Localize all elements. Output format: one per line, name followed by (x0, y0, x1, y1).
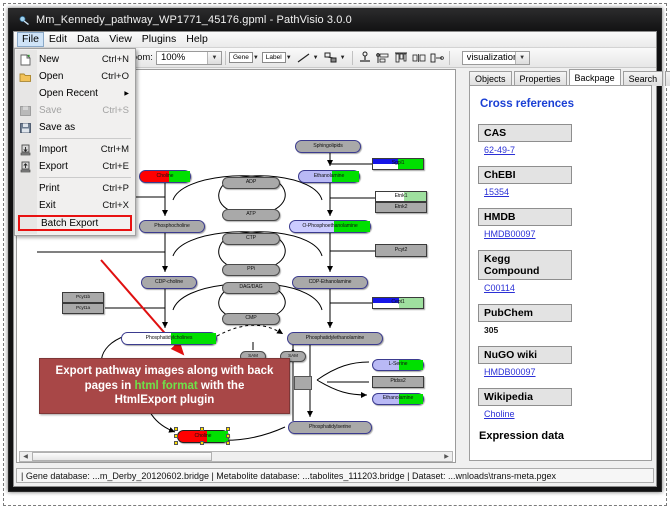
gene-tool-chevron-down-icon[interactable]: ▼ (253, 55, 259, 61)
cofactor-cmp[interactable]: CMP (222, 313, 280, 325)
file-menu-item-save: Save Ctrl+S (15, 102, 135, 119)
file-menu-item-batch-export[interactable]: Batch Export (18, 215, 132, 231)
cofactor-ctp[interactable]: CTP (222, 233, 280, 245)
toolbar-separator (225, 51, 226, 65)
anchor-icon[interactable] (357, 50, 373, 65)
visualization-value: visualization (467, 52, 515, 63)
expression-data-title: Expression data (479, 430, 643, 442)
tab-objects[interactable]: Objects (469, 71, 512, 86)
file-menu-item-open-recent[interactable]: Open Recent ▶ (15, 85, 135, 102)
screenshot-root: Mm_Kennedy_pathway_WP1771_45176.gpml - P… (0, 0, 670, 509)
file-menu-label-new: New (39, 54, 102, 65)
metabolite-ethanolamine-top[interactable]: Ethanolamine (298, 170, 360, 183)
line-tool-chevron-down-icon[interactable]: ▼ (313, 55, 319, 61)
window-title: Mm_Kennedy_pathway_WP1771_45176.gpml - P… (36, 14, 352, 26)
metabolite-cdp-choline[interactable]: CDP-choline (141, 276, 197, 289)
annotation-line2-a: pages in (85, 380, 135, 392)
xref-value-hmdb: HMDB00097 (484, 229, 643, 239)
file-menu-separator-1 (39, 138, 131, 139)
canvas-hscrollbar[interactable]: ◀ ▶ (19, 451, 453, 462)
metabolite-phosphatidylethanolamine[interactable]: Phosphatidylethanolamine (287, 332, 383, 345)
xref-source-pubchem: PubChem (478, 304, 572, 322)
open-folder-icon (19, 71, 32, 83)
xref-source-hmdb: HMDB (478, 208, 572, 226)
file-menu-accel-save: Ctrl+S (102, 105, 135, 116)
xref-source-chebi: ChEBI (478, 166, 572, 184)
label-tool[interactable]: Label (262, 52, 286, 63)
file-menu-dropdown[interactable]: New Ctrl+N Open Ctrl+O Open Recent ▶ (14, 48, 136, 236)
gene-pcyt2[interactable]: Pcyt2 (375, 244, 427, 257)
save-as-disk-icon (19, 122, 32, 134)
menubar: File Edit Data View Plugins Help (14, 32, 656, 48)
xref-source-kegg: Kegg Compound (478, 250, 572, 280)
metabolite-l-serine[interactable]: L-Serine (372, 359, 424, 371)
chevron-down-icon[interactable]: ▼ (207, 52, 221, 64)
annotation-line2-b: with the (198, 380, 245, 392)
menu-help[interactable]: Help (181, 32, 213, 47)
xref-link-wikipedia[interactable]: Choline (484, 409, 515, 419)
file-menu-label-batch-export: Batch Export (41, 218, 130, 229)
file-menu-label-open: Open (39, 71, 101, 82)
import-icon (19, 144, 32, 156)
sidebar-tabs: Objects Properties Backpage Search Legen… (469, 71, 654, 86)
metabolite-o-phosphoethanolamine[interactable]: O-Phosphoethanolamine (289, 220, 371, 233)
xref-link-hmdb[interactable]: HMDB00097 (484, 229, 536, 239)
file-menu-label-open-recent: Open Recent (39, 88, 124, 99)
metabolite-phosphocholine[interactable]: Phosphocholine (139, 220, 205, 233)
hscroll-thumb[interactable] (32, 452, 212, 461)
file-menu-item-import[interactable]: Import Ctrl+M (15, 141, 135, 158)
gene-pcyt1b[interactable]: Pcyt1b (62, 292, 104, 303)
metabolite-phosphatidylserine[interactable]: Phosphatidylserine (288, 421, 372, 434)
xref-source-nugo: NuGO wiki (478, 346, 572, 364)
scroll-right-icon[interactable]: ▶ (441, 452, 452, 461)
menu-data[interactable]: Data (72, 32, 104, 47)
align-left-icon[interactable] (375, 50, 391, 65)
pathvisio-window: Mm_Kennedy_pathway_WP1771_45176.gpml - P… (8, 8, 662, 492)
annotation-line3: HtmlExport plugin (115, 394, 215, 406)
xref-link-cas[interactable]: 62-49-7 (484, 145, 515, 155)
file-menu-label-import: Import (39, 144, 101, 155)
toolbar-separator-2 (352, 51, 353, 65)
cofactor-atp[interactable]: ATP (222, 209, 280, 221)
toolbar-separator-3 (449, 51, 450, 65)
xref-value-cas: 62-49-7 (484, 145, 643, 155)
menu-file[interactable]: File (17, 32, 44, 47)
save-disk-icon (19, 105, 32, 117)
group-icon[interactable] (429, 50, 445, 65)
file-menu-accel-open: Ctrl+O (101, 71, 135, 82)
tab-properties[interactable]: Properties (514, 71, 567, 86)
zoom-value: 100% (161, 52, 207, 63)
file-menu-item-print[interactable]: Print Ctrl+P (15, 180, 135, 197)
file-menu-item-new[interactable]: New Ctrl+N (15, 51, 135, 68)
menu-plugins[interactable]: Plugins (137, 32, 181, 47)
label-tool-chevron-down-icon[interactable]: ▼ (286, 55, 292, 61)
file-menu-separator-2 (39, 177, 131, 178)
gene-cept1[interactable]: Cept1 (372, 297, 424, 309)
scroll-left-icon[interactable]: ◀ (20, 452, 31, 461)
tab-search[interactable]: Search (623, 71, 664, 86)
cross-references-title: Cross references (480, 98, 643, 110)
submenu-chevron-right-icon: ▶ (124, 90, 135, 97)
tab-backpage[interactable]: Backpage (569, 69, 621, 86)
file-menu-label-save-as: Save as (39, 122, 129, 133)
backpage-panel: Cross references CAS 62-49-7 ChEBI 15354… (469, 85, 652, 461)
visualization-chevron-down-icon[interactable]: ▼ (515, 52, 529, 64)
pathvisio-app-icon (19, 15, 30, 26)
xref-value-chebi: 15354 (484, 187, 643, 197)
cofactor-adp[interactable]: ADP (222, 177, 280, 189)
file-menu-item-save-as[interactable]: Save as (15, 119, 135, 136)
file-menu-accel-print: Ctrl+P (102, 183, 135, 194)
sidebar: Objects Properties Backpage Search Legen… (463, 69, 654, 463)
annotation-line1: Export pathway images along with back (56, 365, 274, 377)
gene-pcyt1a[interactable]: Pcyt1a (62, 303, 104, 314)
gene-ptdss2[interactable]: Ptdss2 (372, 376, 424, 388)
status-text: | Gene database: ...m_Derby_20120602.bri… (16, 468, 654, 483)
xref-value-nugo: HMDB00097 (484, 367, 643, 377)
gene-sgpl1[interactable]: Sgpl1 (372, 158, 424, 170)
visualization-combobox[interactable]: visualization ▼ (462, 51, 530, 65)
xref-value-pubchem: 305 (484, 325, 643, 335)
file-menu-accel-import: Ctrl+M (101, 144, 135, 155)
menu-view[interactable]: View (104, 32, 137, 47)
line-tool-icon[interactable] (296, 50, 312, 65)
file-menu-label-save: Save (39, 105, 102, 116)
metabolite-ethanolamine-bottom[interactable]: Ethanolamine (372, 393, 424, 405)
xref-source-wikipedia: Wikipedia (478, 388, 572, 406)
annotation-callout: Export pathway images along with back pa… (39, 358, 290, 414)
xref-link-nugo[interactable]: HMDB00097 (484, 367, 536, 377)
window-titlebar: Mm_Kennedy_pathway_WP1771_45176.gpml - P… (9, 9, 661, 31)
gene-etnk1[interactable]: Etnk1 (375, 191, 427, 202)
cofactor-dag[interactable]: DAG/DAG (222, 282, 280, 294)
gene-product-tool[interactable]: Gene (229, 52, 253, 63)
shape-tool-chevron-down-icon[interactable]: ▼ (340, 55, 346, 61)
app-client-area: File Edit Data View Plugins Help Zoom: 1… (13, 31, 657, 487)
xref-link-kegg[interactable]: C00114 (484, 283, 515, 293)
xref-value-wikipedia: Choline (484, 409, 643, 419)
zoom-combobox[interactable]: 100% ▼ (156, 51, 222, 65)
annotation-highlight: html format (134, 380, 197, 392)
file-menu-accel-exit: Ctrl+X (102, 200, 135, 211)
file-menu-label-export: Export (39, 161, 102, 172)
align-top-icon[interactable] (393, 50, 409, 65)
reaction-anchor-stub (294, 376, 312, 390)
metabolite-sphingolipids[interactable]: Sphingolipids (295, 140, 361, 153)
file-menu-item-open[interactable]: Open Ctrl+O (15, 68, 135, 85)
cofactor-ppi[interactable]: PPi (222, 264, 280, 276)
file-menu-label-print: Print (39, 183, 102, 194)
annotation-text: Export pathway images along with back pa… (56, 364, 274, 407)
menu-edit[interactable]: Edit (44, 32, 72, 47)
file-menu-item-export[interactable]: Export Ctrl+E (15, 158, 135, 175)
metabolite-phosphatidylcholines[interactable]: Phosphatidylcholines (121, 332, 217, 345)
tab-legend[interactable]: Legend (665, 71, 670, 86)
file-menu-accel-export: Ctrl+E (102, 161, 135, 172)
xref-source-cas: CAS (478, 124, 572, 142)
statusbar: | Gene database: ...m_Derby_20120602.bri… (14, 464, 656, 486)
metabolite-cdp-ethanolamine[interactable]: CDP-Ethanolamine (292, 276, 368, 289)
distribute-horizontal-icon[interactable] (411, 50, 427, 65)
file-menu-label-exit: Exit (39, 200, 102, 211)
gene-etnk2[interactable]: Etnk2 (375, 202, 427, 213)
xref-value-kegg: C00114 (484, 283, 643, 293)
file-menu-accel-new: Ctrl+N (102, 54, 135, 65)
export-icon (19, 161, 32, 173)
shape-tool-icon[interactable] (323, 50, 339, 65)
file-menu-item-exit[interactable]: Exit Ctrl+X (15, 197, 135, 214)
xref-link-chebi[interactable]: 15354 (484, 187, 509, 197)
metabolite-choline-top[interactable]: Choline (139, 170, 191, 183)
new-document-icon (19, 54, 32, 66)
